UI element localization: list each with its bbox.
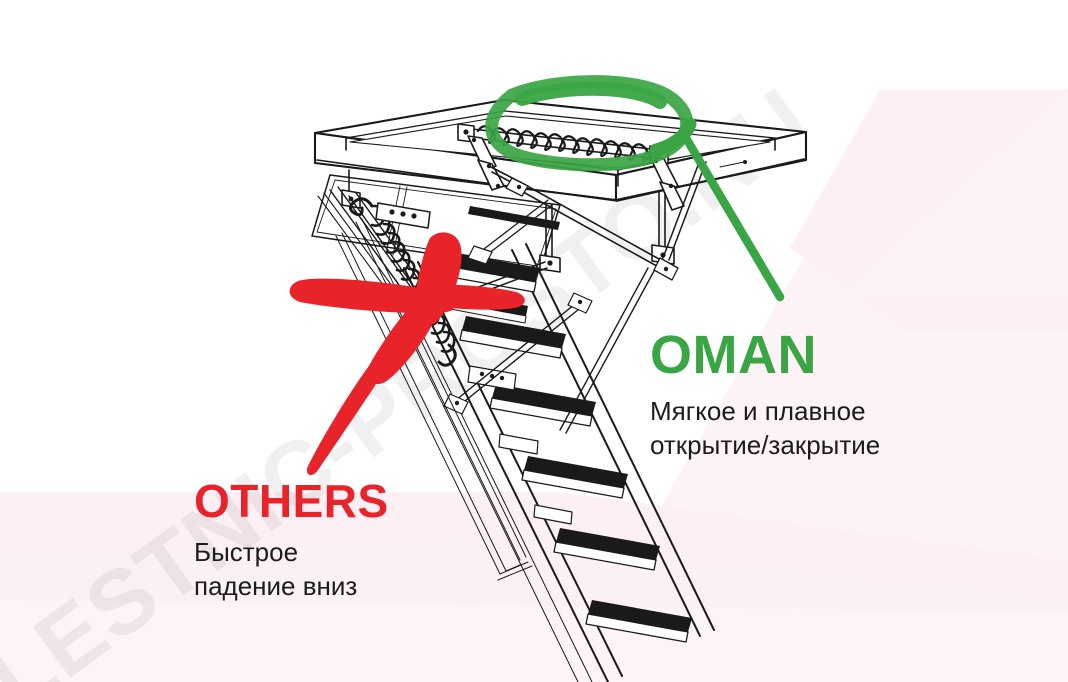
oman-subtext-line2: открытие/закрытие (650, 428, 980, 462)
others-subtext-line2: падение вниз (194, 569, 524, 603)
oman-subtext-line1: Мягкое и плавное (650, 394, 980, 428)
oman-subtext: Мягкое и плавное открытие/закрытие (650, 394, 980, 463)
others-subtext: Быстрое падение вниз (194, 535, 524, 604)
callout-oman: OMAN Мягкое и плавное открытие/закрытие (650, 328, 980, 463)
oman-heading: OMAN (650, 328, 980, 382)
callout-others: OTHERS Быстрое падение вниз (194, 478, 524, 604)
others-subtext-line1: Быстрое (194, 535, 524, 569)
illustration-canvas: LESTNIC-PROSTO.RU (0, 0, 1068, 682)
others-heading: OTHERS (194, 478, 524, 524)
